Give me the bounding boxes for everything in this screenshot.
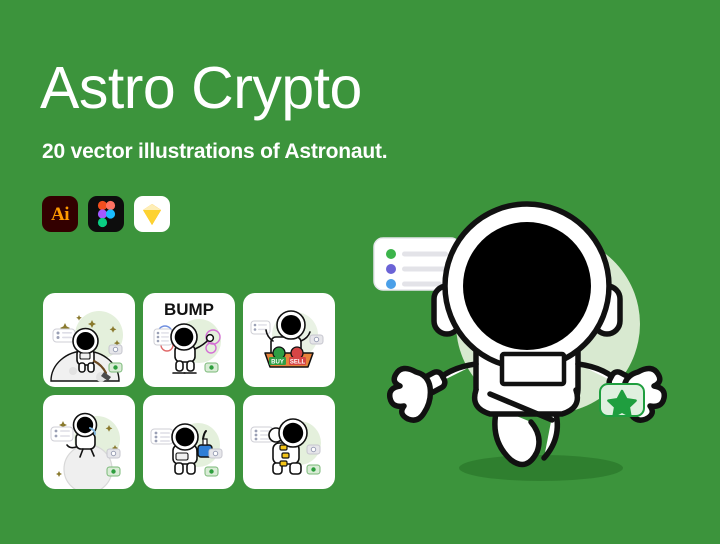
promo-banner: Astro Crypto 20 vector illustrations of …	[0, 0, 720, 544]
chest-panel	[502, 354, 564, 384]
thumbnail-astronaut-with-coins[interactable]	[243, 395, 335, 489]
thumb-caption-bump: BUMP	[164, 300, 214, 319]
thumbnail-astronaut-buy-sell[interactable]: BUY SELL	[243, 293, 335, 387]
thumb-buy-label: BUY	[271, 359, 284, 365]
thumbnail-astronaut-sitting-planet[interactable]	[43, 395, 135, 489]
illustrator-icon[interactable]: Ai	[42, 196, 78, 232]
sketch-icon[interactable]	[134, 196, 170, 232]
thumbnail-grid: BUMP	[43, 293, 335, 489]
format-badges: Ai	[42, 196, 170, 232]
illustrator-abbr: Ai	[51, 205, 69, 224]
figma-icon[interactable]	[88, 196, 124, 232]
thumbnail-astronaut-with-bottle[interactable]	[143, 395, 235, 489]
page-title: Astro Crypto	[40, 58, 362, 120]
thumbnail-astronaut-bump[interactable]: BUMP	[143, 293, 235, 387]
hero-illustration	[366, 176, 706, 506]
hero-shadow	[459, 455, 623, 481]
thumbnail-astronaut-on-moon[interactable]	[43, 293, 135, 387]
page-subtitle: 20 vector illustrations of Astronaut.	[42, 140, 387, 164]
thumb-sell-label: SELL	[290, 359, 306, 365]
helmet-visor	[463, 222, 591, 350]
hand-left	[390, 368, 431, 420]
star-badge	[600, 384, 644, 416]
